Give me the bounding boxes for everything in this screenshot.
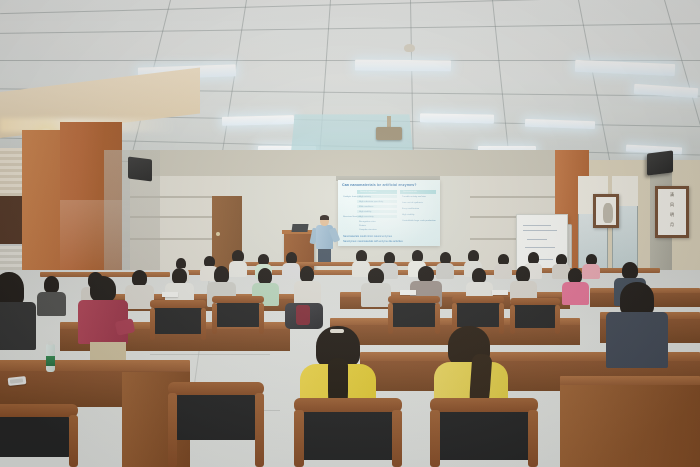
chair[interactable] xyxy=(212,296,264,334)
bottle-cap xyxy=(48,341,53,345)
chair[interactable] xyxy=(294,398,402,467)
handout-paper xyxy=(162,292,178,297)
chair[interactable] xyxy=(0,404,78,467)
wood-column-outer-left xyxy=(22,130,62,282)
presenter-hair xyxy=(320,215,329,220)
ceiling-light-panel xyxy=(222,115,294,126)
calligraphy-line: 清 xyxy=(658,193,686,198)
calligraphy-line: 月 xyxy=(658,223,686,228)
handout-paper xyxy=(492,290,508,295)
smoke-detector-icon xyxy=(404,44,415,52)
chair[interactable] xyxy=(388,296,440,334)
wall-speaker-icon xyxy=(647,150,673,175)
bottle-label xyxy=(46,356,55,366)
calligraphy-line: 明 xyxy=(658,213,686,218)
calligraphy-line: 风 xyxy=(658,203,686,208)
framed-calligraphy: 清 风 明 月 xyxy=(655,186,689,238)
desk-front-right-near xyxy=(560,385,700,467)
ceiling-projector xyxy=(376,127,402,140)
ceiling-light-panel xyxy=(355,60,451,72)
framed-artwork xyxy=(593,194,619,228)
door-handle-icon[interactable] xyxy=(216,232,220,236)
chair[interactable] xyxy=(168,382,264,467)
front-wall-upper-band xyxy=(130,150,570,176)
screen-light-bloom xyxy=(338,180,440,246)
ceiling-light-panel xyxy=(420,113,494,123)
chair[interactable] xyxy=(430,398,538,467)
handout-paper xyxy=(400,290,416,295)
backpack-strap xyxy=(296,305,310,325)
lecture-hall-photo: 清 风 明 月 Can nanomaterials be artificial … xyxy=(0,0,700,467)
laptop-on-lectern[interactable] xyxy=(291,224,308,232)
chair[interactable] xyxy=(150,300,206,340)
chair[interactable] xyxy=(510,298,560,334)
wall-speaker-icon xyxy=(128,157,152,182)
